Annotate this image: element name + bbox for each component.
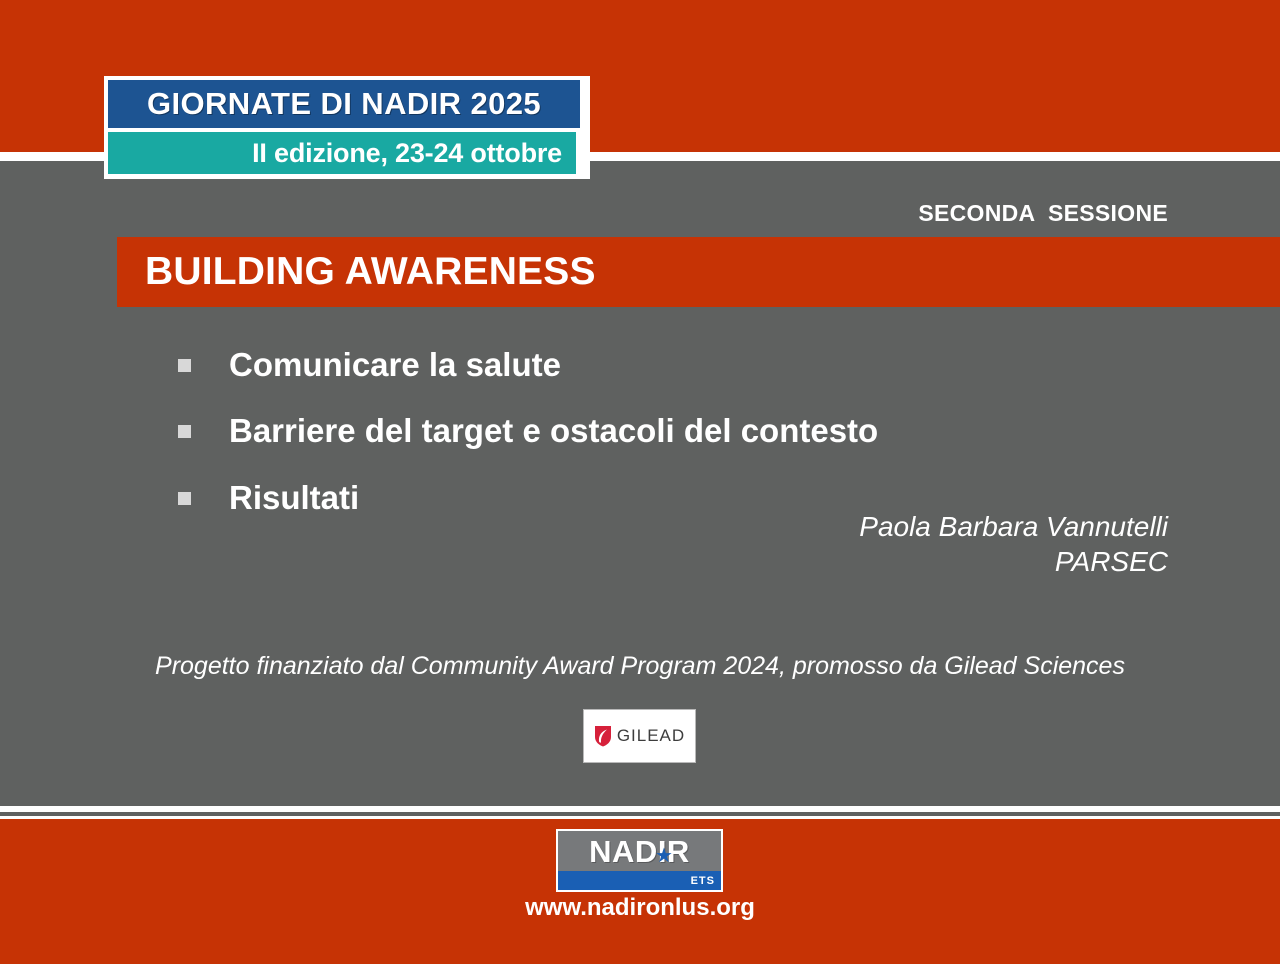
slide-title-bar: BUILDING AWARENESS xyxy=(117,237,1280,307)
star-icon: ★ xyxy=(655,846,673,866)
event-logo-title-band: GIORNATE DI NADIR 2025 xyxy=(108,80,580,128)
event-logo: GIORNATE DI NADIR 2025 II edizione, 23-2… xyxy=(104,76,590,179)
nadir-wordmark: NADIR xyxy=(589,836,690,867)
gilead-logo: GILEAD xyxy=(583,709,696,763)
event-logo-subtitle: II edizione, 23-24 ottobre xyxy=(252,138,562,169)
organization-url[interactable]: www.nadironlus.org xyxy=(0,894,1280,922)
list-item: Barriere del target e ostacoli del conte… xyxy=(178,410,1158,451)
nadir-logo: NADIR ★ ETS xyxy=(556,829,723,892)
speaker-block: Paola Barbara Vannutelli PARSEC xyxy=(859,512,1168,578)
presentation-slide: GIORNATE DI NADIR 2025 II edizione, 23-2… xyxy=(0,0,1280,964)
nadir-logo-suffix-band: ETS xyxy=(558,871,721,890)
gilead-wordmark: GILEAD xyxy=(617,726,685,746)
square-bullet-icon xyxy=(178,359,191,372)
nadir-suffix: ETS xyxy=(691,875,715,887)
speaker-name: Paola Barbara Vannutelli xyxy=(859,512,1168,543)
event-logo-title: GIORNATE DI NADIR 2025 xyxy=(147,86,541,122)
speaker-organization: PARSEC xyxy=(859,547,1168,578)
gilead-shield-icon xyxy=(594,725,612,747)
agenda-item-label: Barriere del target e ostacoli del conte… xyxy=(229,410,878,451)
agenda-item-label: Comunicare la salute xyxy=(229,344,561,385)
slide-title: BUILDING AWARENESS xyxy=(117,250,596,294)
square-bullet-icon xyxy=(178,492,191,505)
list-item: Comunicare la salute xyxy=(178,344,1158,385)
funding-note: Progetto finanziato dal Community Award … xyxy=(0,652,1280,681)
nadir-logo-wordmark-band: NADIR ★ xyxy=(558,831,721,871)
event-logo-subtitle-band: II edizione, 23-24 ottobre xyxy=(108,132,576,174)
session-label: SECONDA SESSIONE xyxy=(918,200,1168,227)
agenda-item-label: Risultati xyxy=(229,477,359,518)
gilead-logo-inner: GILEAD xyxy=(594,725,685,747)
square-bullet-icon xyxy=(178,425,191,438)
